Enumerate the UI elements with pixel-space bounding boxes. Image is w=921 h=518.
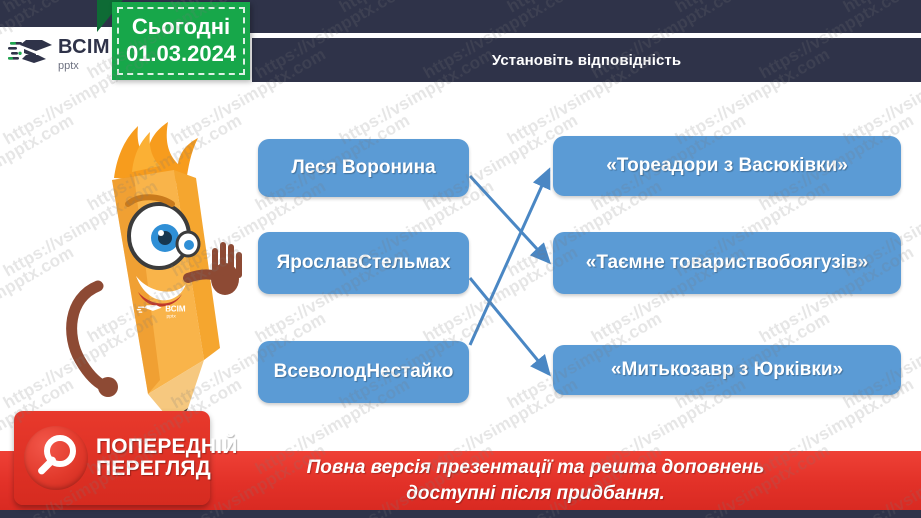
match-right-item-2[interactable]: «Таємне товариствобоягузів» — [553, 232, 901, 294]
page-title: Установіть відповідність — [492, 52, 681, 69]
match-left-item-2[interactable]: ЯрославСтельмах — [258, 232, 469, 294]
preview-badge-label: ПОПЕРЕДНІЙ ПЕРЕГЛЯД — [96, 436, 238, 481]
date-badge: Сьогодні 01.03.2024 — [112, 2, 250, 80]
connector-2 — [470, 278, 549, 374]
date-badge-value: 01.03.2024 — [126, 41, 236, 68]
match-right-item-1[interactable]: «Тореадори з Васюківки» — [553, 136, 901, 196]
slide-canvas: Установіть відповідність — [0, 0, 921, 518]
slide-title-bar: Установіть відповідність — [252, 38, 921, 82]
preview-badge-line-2: ПЕРЕГЛЯД — [96, 458, 238, 480]
brand-logo: ВСІМ pptx — [0, 27, 124, 83]
svg-text:pptx: pptx — [167, 314, 177, 320]
pencil-mascot-icon: ВСІМ pptx — [28, 108, 243, 420]
brand-suffix: pptx — [58, 60, 79, 72]
svg-text:ВСІМ: ВСІМ — [165, 304, 186, 313]
brand-name: ВСІМ — [58, 36, 110, 58]
preview-notice-line-2: доступні після придбання. — [150, 481, 921, 506]
preview-badge: ПОПЕРЕДНІЙ ПЕРЕГЛЯД — [14, 411, 210, 505]
match-left-item-3[interactable]: ВсеволодНестайко — [258, 341, 469, 403]
match-left-item-1[interactable]: Леся Воронина — [258, 139, 469, 197]
graduation-cap-icon — [8, 36, 54, 75]
date-badge-label: Сьогодні — [132, 14, 230, 41]
preview-badge-line-1: ПОПЕРЕДНІЙ — [96, 436, 238, 458]
match-right-item-3[interactable]: «Митькозавр з Юрківки» — [553, 345, 901, 395]
connector-1 — [470, 176, 549, 262]
bottom-dark-edge — [0, 510, 921, 518]
connector-3 — [470, 170, 549, 345]
magnifier-icon — [24, 426, 88, 490]
preview-notice-line-1: Повна версія презентації та решта доповн… — [150, 455, 921, 480]
